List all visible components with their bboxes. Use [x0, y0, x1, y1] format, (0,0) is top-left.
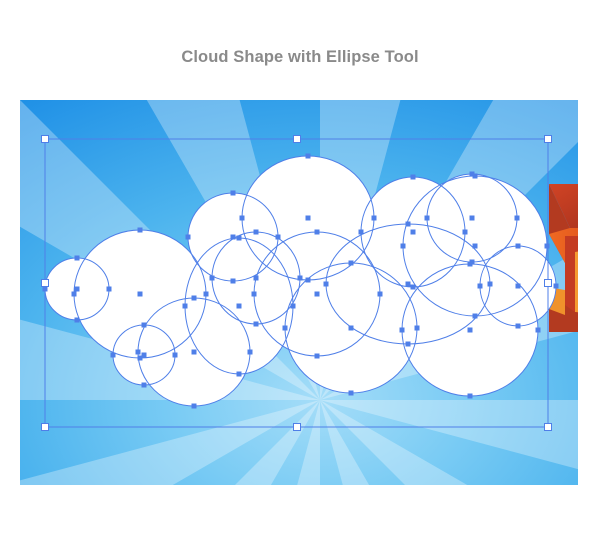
ellipse-10-center-point[interactable]	[75, 287, 80, 292]
ellipse-13-anchor-point[interactable]	[248, 350, 253, 355]
ellipse-12-anchor-point[interactable]	[415, 326, 420, 331]
ellipse-16-anchor-point[interactable]	[554, 284, 559, 289]
ellipse-15-center-point[interactable]	[254, 276, 259, 281]
ellipse-8-anchor-point[interactable]	[237, 236, 242, 241]
ellipse-4-anchor-point[interactable]	[186, 235, 191, 240]
ellipse-15-anchor-point[interactable]	[210, 276, 215, 281]
ellipse-4-anchor-point[interactable]	[231, 279, 236, 284]
box-bright-front-face	[575, 244, 578, 318]
ellipse-10-anchor-point[interactable]	[107, 287, 112, 292]
ellipse-8-anchor-point[interactable]	[291, 304, 296, 309]
handle-bottom-center[interactable]	[294, 424, 301, 431]
ellipse-3-anchor-point[interactable]	[425, 216, 430, 221]
ellipse-15-anchor-point[interactable]	[298, 276, 303, 281]
ellipse-11-center-point[interactable]	[468, 328, 473, 333]
ellipse-16-anchor-point[interactable]	[478, 284, 483, 289]
ellipse-6-anchor-point[interactable]	[378, 292, 383, 297]
handle-bottom-right[interactable]	[545, 424, 552, 431]
ellipse-12-anchor-point[interactable]	[283, 326, 288, 331]
ellipse-5-anchor-point[interactable]	[545, 244, 550, 249]
ellipse-13-anchor-point[interactable]	[192, 296, 197, 301]
ellipse-1-anchor-point[interactable]	[306, 154, 311, 159]
ellipse-7-anchor-point[interactable]	[406, 342, 411, 347]
ellipse-7-anchor-point[interactable]	[488, 282, 493, 287]
ellipse-7-anchor-point[interactable]	[324, 282, 329, 287]
ellipse-8-center-point[interactable]	[237, 304, 242, 309]
handle-top-left[interactable]	[42, 136, 49, 143]
ellipse-6-anchor-point[interactable]	[315, 354, 320, 359]
handle-bottom-left[interactable]	[42, 424, 49, 431]
ellipse-5-anchor-point[interactable]	[401, 244, 406, 249]
ellipse-12-center-point[interactable]	[349, 326, 354, 331]
handle-top-right[interactable]	[545, 136, 552, 143]
ellipse-5-anchor-point[interactable]	[473, 174, 478, 179]
ellipse-14-anchor-point[interactable]	[142, 323, 147, 328]
ellipse-8-anchor-point[interactable]	[183, 304, 188, 309]
artboard-svg[interactable]	[20, 100, 578, 485]
ellipse-16-anchor-point[interactable]	[516, 324, 521, 329]
ellipse-4-anchor-point[interactable]	[231, 191, 236, 196]
ellipse-2-center-point[interactable]	[411, 230, 416, 235]
ellipse-15-anchor-point[interactable]	[254, 322, 259, 327]
ellipse-10-anchor-point[interactable]	[75, 256, 80, 261]
ellipse-3-center-point[interactable]	[470, 216, 475, 221]
ellipse-11-anchor-point[interactable]	[536, 328, 541, 333]
ellipse-3-anchor-point[interactable]	[515, 216, 520, 221]
ellipse-6-anchor-point[interactable]	[315, 230, 320, 235]
ellipse-9-anchor-point[interactable]	[72, 292, 77, 297]
handle-middle-left[interactable]	[42, 280, 49, 287]
ellipse-8-anchor-point[interactable]	[237, 372, 242, 377]
ellipse-6-anchor-point[interactable]	[252, 292, 257, 297]
artboard-canvas[interactable]	[20, 100, 578, 485]
ellipse-2-anchor-point[interactable]	[359, 230, 364, 235]
ellipse-1-anchor-point[interactable]	[240, 216, 245, 221]
ellipse-2-anchor-point[interactable]	[463, 230, 468, 235]
ellipse-7-center-point[interactable]	[406, 282, 411, 287]
ellipse-11-anchor-point[interactable]	[468, 394, 473, 399]
ellipse-14-anchor-point[interactable]	[173, 353, 178, 358]
ellipse-11-anchor-point[interactable]	[400, 328, 405, 333]
handle-middle-right[interactable]	[545, 280, 552, 287]
ellipse-13-anchor-point[interactable]	[192, 404, 197, 409]
ellipse-15-anchor-point[interactable]	[254, 230, 259, 235]
ellipse-9-center-point[interactable]	[138, 292, 143, 297]
page-title: Cloud Shape with Ellipse Tool	[0, 48, 600, 67]
ellipse-5-anchor-point[interactable]	[473, 314, 478, 319]
ellipse-11-anchor-point[interactable]	[468, 262, 473, 267]
ellipse-10-anchor-point[interactable]	[75, 318, 80, 323]
ellipse-16-center-point[interactable]	[516, 284, 521, 289]
ellipse-5-center-point[interactable]	[473, 244, 478, 249]
ellipse-6-center-point[interactable]	[315, 292, 320, 297]
ellipse-12-anchor-point[interactable]	[349, 261, 354, 266]
ellipse-9-anchor-point[interactable]	[138, 228, 143, 233]
ellipse-9-anchor-point[interactable]	[204, 292, 209, 297]
ellipse-14-anchor-point[interactable]	[142, 383, 147, 388]
ellipse-1-anchor-point[interactable]	[306, 278, 311, 283]
ellipse-12-anchor-point[interactable]	[349, 391, 354, 396]
handle-top-center[interactable]	[294, 136, 301, 143]
ellipse-1-center-point[interactable]	[306, 216, 311, 221]
ellipse-14-anchor-point[interactable]	[111, 353, 116, 358]
ellipse-1-anchor-point[interactable]	[372, 216, 377, 221]
ellipse-2-anchor-point[interactable]	[411, 285, 416, 290]
ellipse-4-center-point[interactable]	[231, 235, 236, 240]
ellipse-14-center-point[interactable]	[142, 353, 147, 358]
ellipse-7-anchor-point[interactable]	[406, 222, 411, 227]
ellipse-13-anchor-point[interactable]	[136, 350, 141, 355]
ellipse-13-center-point[interactable]	[192, 350, 197, 355]
ellipse-16-anchor-point[interactable]	[516, 244, 521, 249]
ellipse-4-anchor-point[interactable]	[276, 235, 281, 240]
ellipse-2-anchor-point[interactable]	[411, 175, 416, 180]
